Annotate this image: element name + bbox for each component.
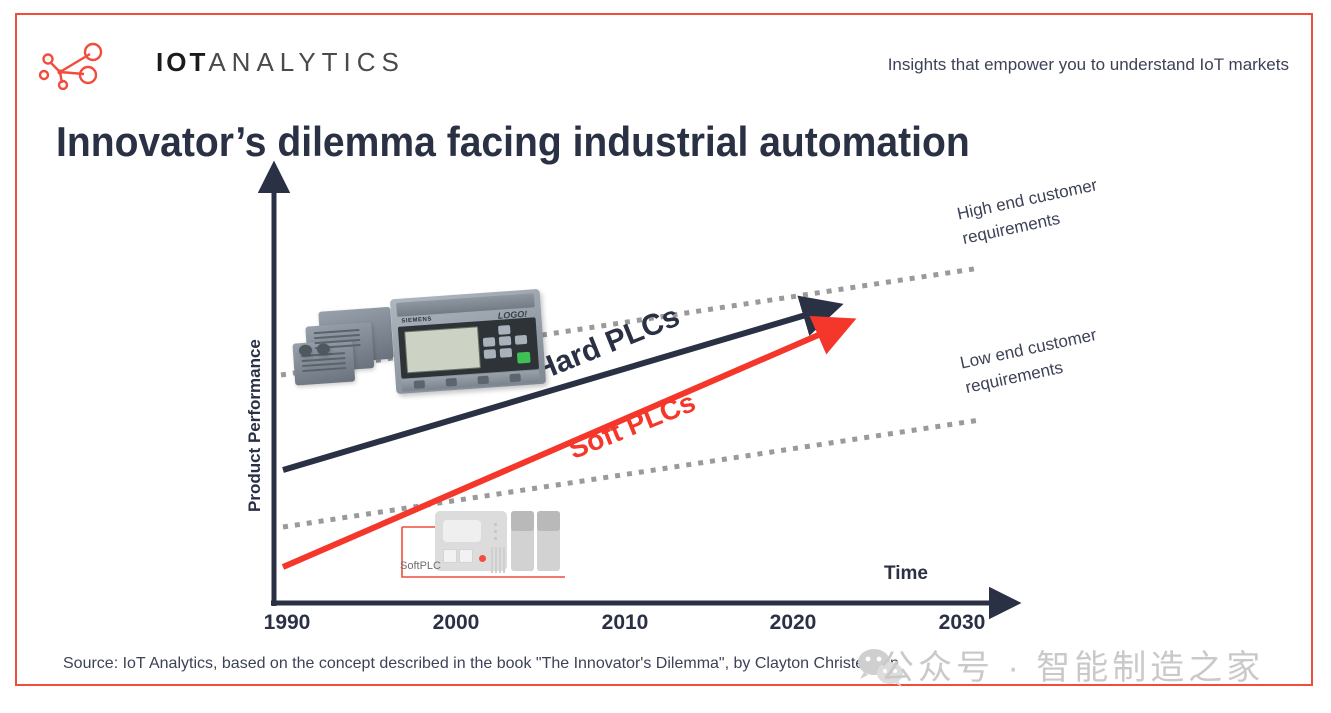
slide-canvas: IOTANALYTICS Insights that empower you t… xyxy=(0,0,1331,713)
x-tick-2020: 2020 xyxy=(748,611,838,635)
x-tick-2000: 2000 xyxy=(411,611,501,635)
hard-plc-photo: SIEMENS LOGO! xyxy=(293,292,551,407)
chart-area: Product Performance Time 1990 2000 2010 … xyxy=(0,0,1331,713)
plc-brand-text: SIEMENS xyxy=(401,316,432,324)
x-tick-1990: 1990 xyxy=(242,611,332,635)
plc-logo-unit: SIEMENS LOGO! xyxy=(390,289,546,394)
plc-lcd-screen xyxy=(404,326,481,373)
soft-plc-device-body xyxy=(435,511,507,571)
soft-plc-caption: SoftPLC xyxy=(400,560,441,572)
plc-keypad xyxy=(482,324,533,367)
source-note: Source: IoT Analytics, based on the conc… xyxy=(63,655,899,673)
y-axis-label: Product Performance xyxy=(245,339,265,512)
x-tick-2030: 2030 xyxy=(917,611,1007,635)
chart-svg xyxy=(0,0,1331,713)
soft-plc-device-screen xyxy=(443,520,481,542)
x-axis-label: Time xyxy=(884,563,928,585)
soft-plc-status-led xyxy=(479,555,486,562)
plc-din-module xyxy=(290,306,400,393)
soft-plc-illustration: SoftPLC xyxy=(390,505,565,590)
soft-plc-module-2 xyxy=(537,511,560,571)
x-tick-2010: 2010 xyxy=(580,611,670,635)
wechat-watermark: 公众号 · 智能制造之家 xyxy=(880,640,1264,689)
soft-plc-module-1 xyxy=(511,511,534,571)
